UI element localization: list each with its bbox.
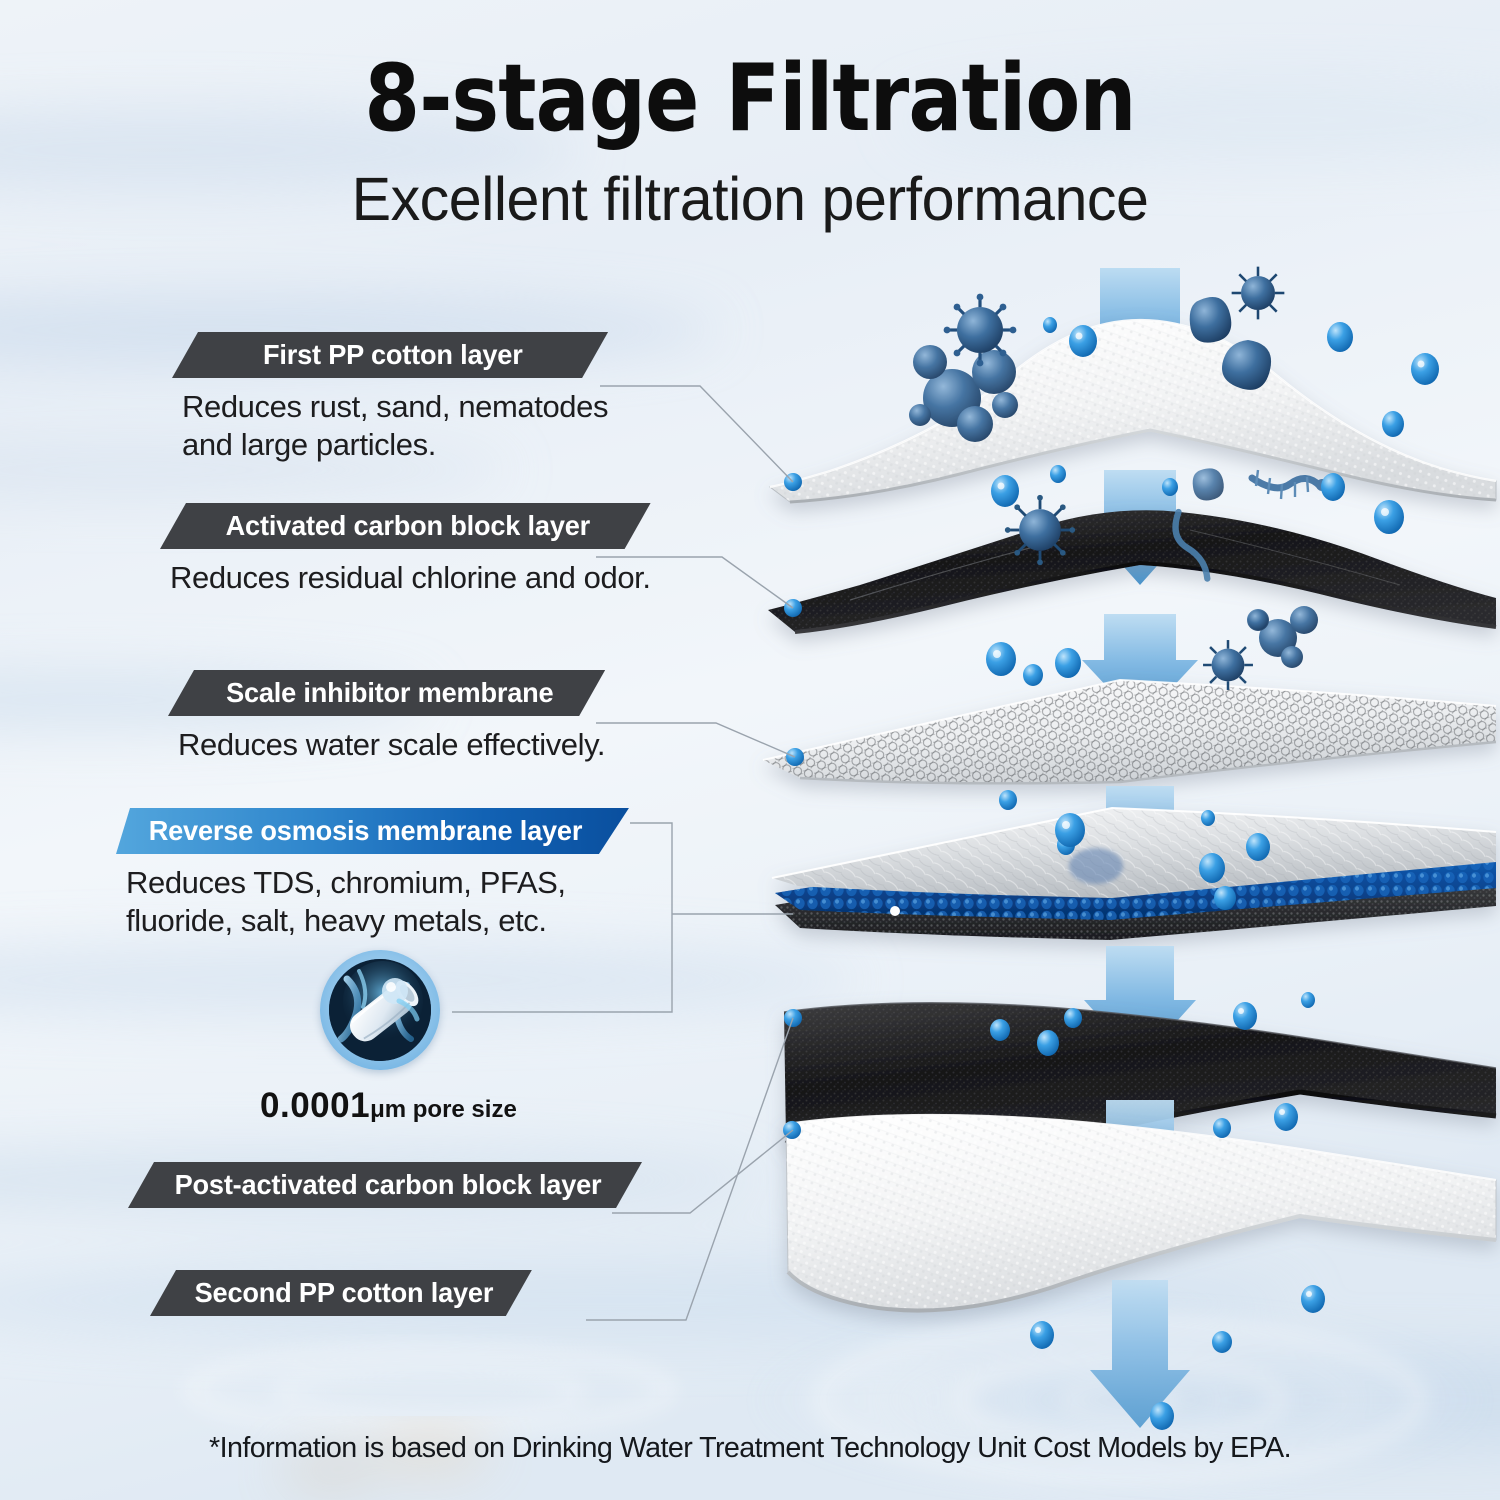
banner-first-pp-cotton[interactable]: First PP cotton layer [172,332,608,378]
connector-scale-inhibitor [596,723,795,757]
banner-post-activated-carbon[interactable]: Post-activated carbon block layer [128,1162,642,1208]
pore-size-unit: μm pore size [370,1096,517,1123]
callout-activated-carbon: Activated carbon block layer Reduces res… [160,503,651,597]
pore-size-label: 0.0001μm pore size [260,1086,500,1126]
banner-scale-inhibitor[interactable]: Scale inhibitor membrane [168,670,605,716]
description-activated-carbon: Reduces residual chlorine and odor. [160,559,651,597]
callout-reverse-osmosis: Reverse osmosis membrane layer Reduces T… [116,808,629,940]
banner-second-pp-cotton[interactable]: Second PP cotton layer [150,1270,532,1316]
callout-second-pp-cotton: Second PP cotton layer [150,1270,532,1316]
banner-label: Activated carbon block layer [226,510,590,542]
ro-membrane-icon [320,950,440,1070]
callout-post-activated-carbon: Post-activated carbon block layer [128,1162,642,1208]
description-scale-inhibitor: Reduces water scale effectively. [168,726,605,764]
membrane-roll-graphic [329,959,431,1061]
callout-first-pp-cotton: First PP cotton layer Reduces rust, sand… [172,332,608,464]
description-reverse-osmosis: Reduces TDS, chromium, PFAS, fluoride, s… [116,864,629,940]
banner-label: Reverse osmosis membrane layer [149,815,583,847]
connector-first-pp-cotton [600,386,793,482]
pore-size-badge: 0.0001μm pore size [260,950,500,1126]
banner-label: Post-activated carbon block layer [175,1169,602,1201]
banner-label: First PP cotton layer [263,339,523,371]
description-first-pp-cotton: Reduces rust, sand, nematodes and large … [172,388,608,464]
banner-label: Second PP cotton layer [195,1277,494,1309]
banner-label: Scale inhibitor membrane [226,677,553,709]
pore-size-value: 0.0001 [260,1086,370,1125]
banner-activated-carbon[interactable]: Activated carbon block layer [160,503,651,549]
footer-note: *Information is based on Drinking Water … [8,1432,1493,1465]
callout-scale-inhibitor: Scale inhibitor membrane Reduces water s… [168,670,605,764]
banner-reverse-osmosis[interactable]: Reverse osmosis membrane layer [116,808,629,854]
